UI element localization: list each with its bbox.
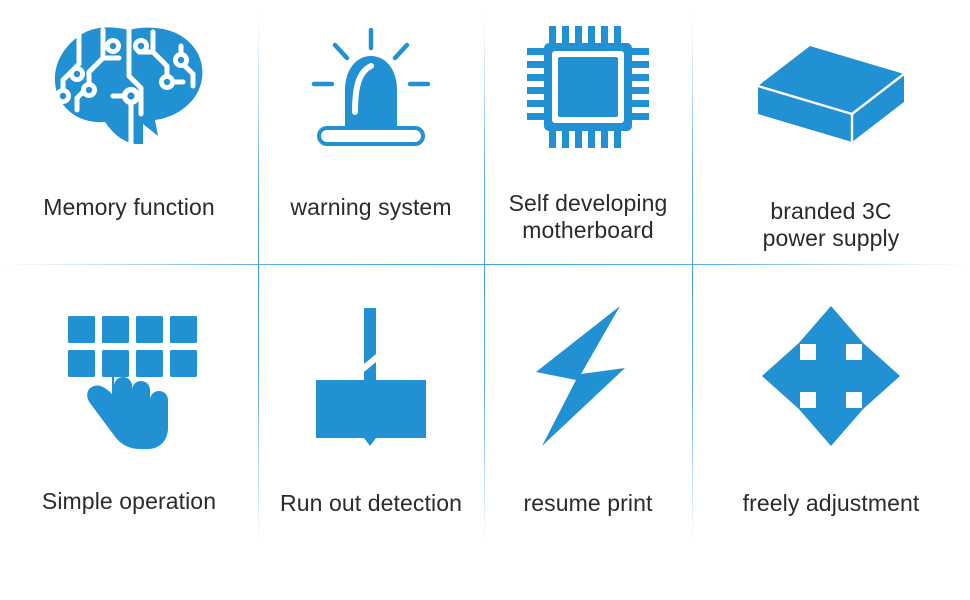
feature-cell-run-out-detection: Run out detection: [258, 300, 484, 517]
finger-key-gap: [112, 346, 124, 350]
icon-wrapper: [528, 300, 648, 450]
icon-wrapper: [43, 20, 215, 150]
feature-grid: Memory function warning sy: [0, 0, 970, 600]
sensor-body: [316, 380, 426, 446]
feature-label: Self developing motherboard: [509, 190, 668, 244]
icon-wrapper: [525, 20, 651, 150]
feature-cell-simple-operation: Simple operation: [0, 300, 258, 515]
feature-cell-self-developing-motherboard: Self developing motherboard: [484, 20, 692, 244]
warning-base: [319, 128, 423, 144]
filament-lower: [364, 362, 376, 382]
keypad-hand-icon: [54, 302, 204, 450]
feature-label: Simple operation: [42, 488, 216, 515]
brain-circuit-icon: [43, 24, 215, 150]
chip-icon: [525, 24, 651, 150]
keypad-row-1: [68, 316, 197, 343]
filament-upper: [364, 308, 376, 364]
feature-label: warning system: [290, 194, 451, 221]
icon-wrapper: [305, 20, 437, 150]
feature-cell-memory-function: Memory function: [0, 20, 258, 221]
feature-label: resume print: [523, 490, 652, 517]
feature-cell-resume-print: resume print: [484, 300, 692, 517]
lightning-bolt-icon: [528, 302, 648, 450]
keypad-row-2: [68, 350, 197, 377]
warning-light-icon: [305, 28, 437, 150]
icon-wrapper: [748, 20, 914, 150]
feature-label: Memory function: [43, 194, 215, 221]
filament-runout-sensor-icon: [306, 302, 436, 450]
icon-wrapper: [758, 300, 904, 450]
feature-label: branded 3C power supply: [763, 198, 900, 252]
feature-cell-warning-system: warning system: [258, 20, 484, 221]
feature-label: freely adjustment: [743, 490, 920, 517]
four-way-arrows-icon: [758, 302, 904, 450]
feature-cell-branded-3c-power-supply: branded 3C power supply: [692, 20, 970, 252]
divider-horizontal: [0, 264, 970, 265]
feature-cell-freely-adjustment: freely adjustment: [692, 300, 970, 517]
icon-wrapper: [306, 300, 436, 450]
power-supply-box-icon: [748, 40, 914, 150]
icon-wrapper: [54, 300, 204, 450]
feature-label: Run out detection: [280, 490, 462, 517]
chip-die: [558, 57, 618, 117]
